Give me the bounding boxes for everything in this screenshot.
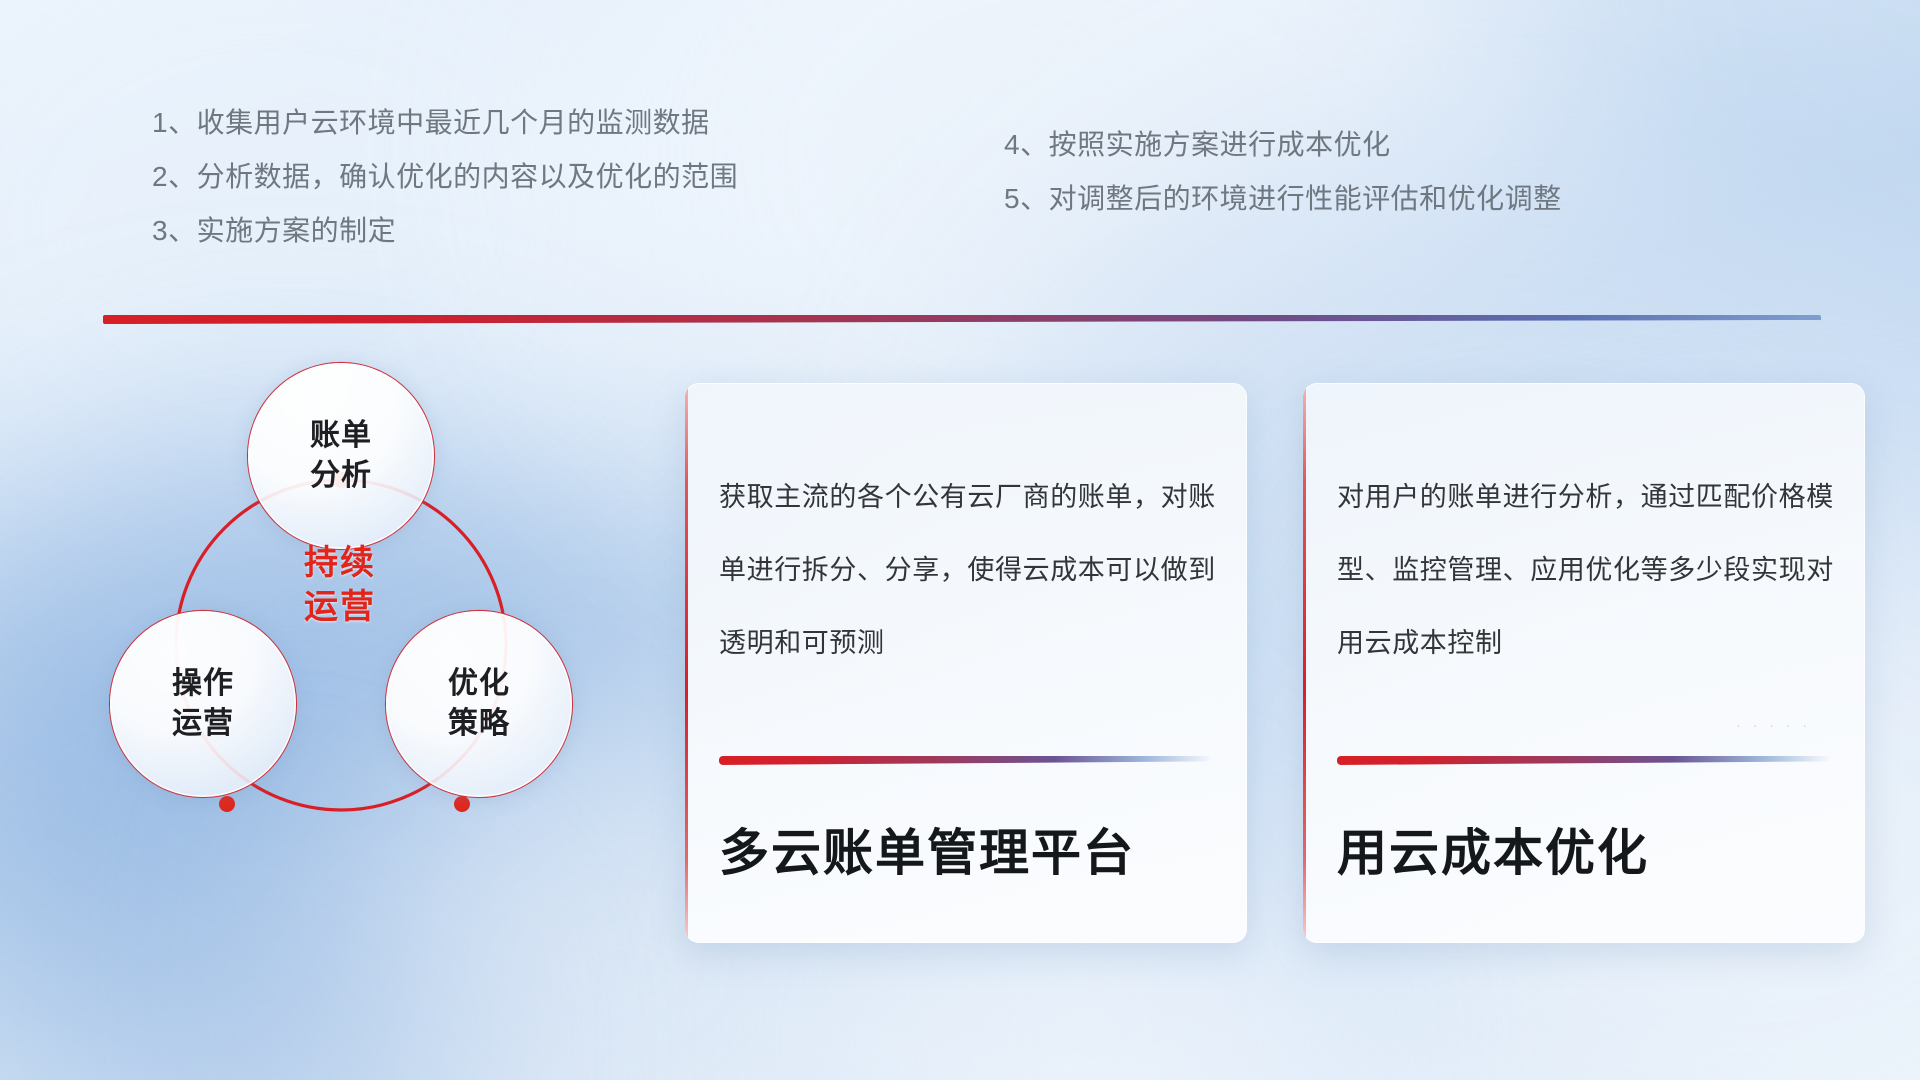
step-item: 1、收集用户云环境中最近几个月的监测数据 [152, 96, 738, 150]
slide-canvas: 1、收集用户云环境中最近几个月的监测数据 2、分析数据，确认优化的内容以及优化的… [0, 0, 1920, 1080]
card-title: 多云账单管理平台 [719, 821, 1223, 885]
venn-node-label-line2: 分析 [310, 456, 372, 496]
card-decoration-dots: · · · · · [1736, 717, 1811, 733]
venn-center-label: 持续 运营 [220, 541, 460, 629]
card-body-text: 对用户的账单进行分析，通过匹配价格模型、监控管理、应用优化等多少段实现对用云成本… [1337, 461, 1835, 680]
venn-node-optimization-strategy[interactable]: 优化 策略 [386, 611, 572, 797]
card-accent-rule [719, 756, 1213, 765]
steps-column-left: 1、收集用户云环境中最近几个月的监测数据 2、分析数据，确认优化的内容以及优化的… [152, 96, 738, 258]
venn-node-billing-analysis[interactable]: 账单 分析 [248, 363, 434, 549]
venn-node-label: 账单 分析 [310, 416, 372, 496]
feature-card-cloud-cost-optimization[interactable]: 对用户的账单进行分析，通过匹配价格模型、监控管理、应用优化等多少段实现对用云成本… [1303, 383, 1865, 943]
steps-list: 1、收集用户云环境中最近几个月的监测数据 2、分析数据，确认优化的内容以及优化的… [0, 0, 1920, 250]
card-body-text: 获取主流的各个公有云厂商的账单，对账单进行拆分、分享，使得云成本可以做到透明和可… [719, 461, 1217, 680]
step-item: 2、分析数据，确认优化的内容以及优化的范围 [152, 150, 738, 204]
venn-node-operation[interactable]: 操作 运营 [110, 611, 296, 797]
venn-node-label: 操作 运营 [172, 664, 234, 744]
venn-node-label-line1: 优化 [448, 664, 510, 704]
step-item: 3、实施方案的制定 [152, 204, 738, 258]
card-accent-rule [1337, 756, 1831, 765]
node-dot-bottom-right [454, 796, 470, 812]
venn-node-label-line1: 账单 [310, 416, 372, 456]
step-item: 4、按照实施方案进行成本优化 [1004, 118, 1562, 172]
venn-center-label-line2: 运营 [220, 585, 460, 629]
continuous-operation-diagram: 账单 分析 操作 运营 优化 策略 持续 运营 [96, 355, 636, 935]
venn-node-label-line2: 运营 [172, 704, 234, 744]
feature-card-multi-cloud-billing[interactable]: 获取主流的各个公有云厂商的账单，对账单进行拆分、分享，使得云成本可以做到透明和可… [685, 383, 1247, 943]
card-title: 用云成本优化 [1337, 821, 1841, 885]
node-dot-bottom-left [219, 796, 235, 812]
venn-center-label-line1: 持续 [220, 541, 460, 585]
venn-node-label-line1: 操作 [172, 664, 234, 704]
step-item: 5、对调整后的环境进行性能评估和优化调整 [1004, 172, 1562, 226]
venn-node-label-line2: 策略 [448, 704, 510, 744]
steps-column-right: 4、按照实施方案进行成本优化 5、对调整后的环境进行性能评估和优化调整 [1004, 118, 1562, 226]
venn-node-label: 优化 策略 [448, 664, 510, 744]
